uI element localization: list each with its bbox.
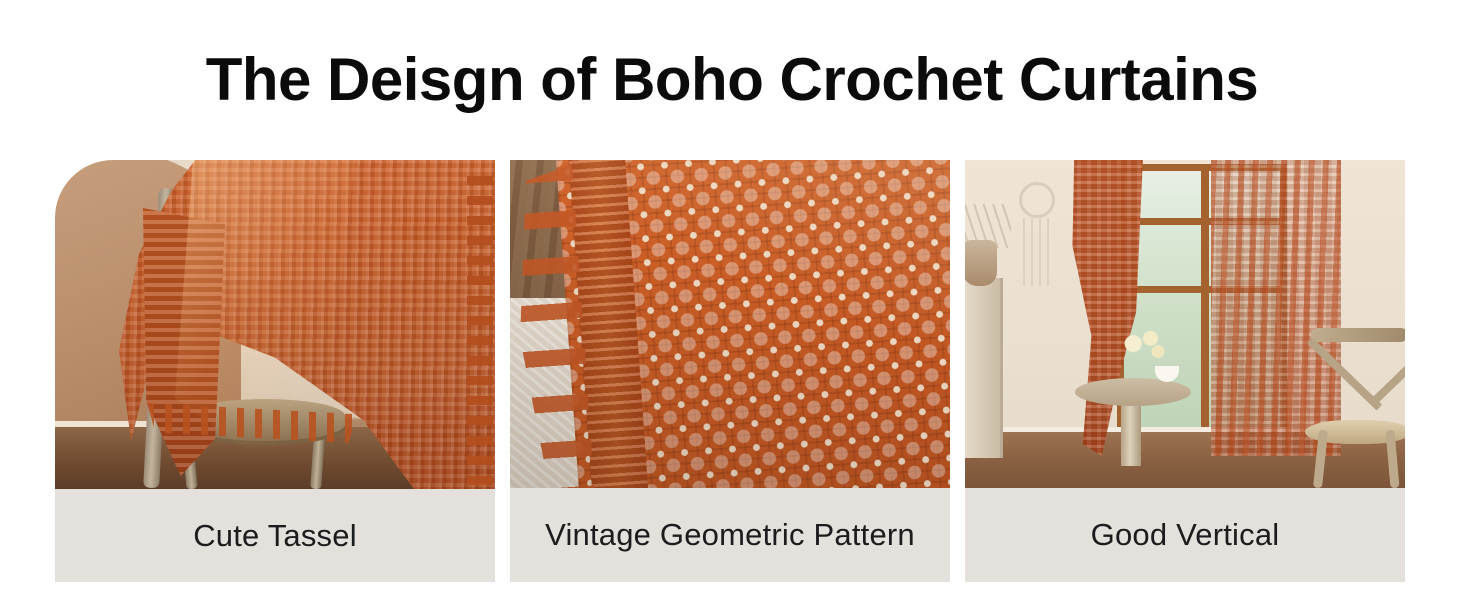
card-caption-band: Vintage Geometric Pattern [510, 488, 950, 582]
card-caption-text: Vintage Geometric Pattern [545, 516, 915, 554]
dreamcatcher-ring [1019, 182, 1055, 218]
fireplace-mantel [965, 278, 1003, 458]
feature-card-grid: Cute Tassel Vintage Geometric Pattern [55, 160, 1410, 582]
window-mullion-vertical [1201, 164, 1209, 456]
product-feature-banner: The Deisgn of Boho Crochet Curtains [0, 0, 1464, 600]
vase [965, 240, 997, 286]
chair-top-rail [1311, 328, 1405, 342]
feature-card-cute-tassel[interactable]: Cute Tassel [55, 160, 495, 582]
chair-cross-brace-1 [1307, 338, 1382, 410]
card-caption-text: Cute Tassel [193, 517, 357, 555]
page-title: The Deisgn of Boho Crochet Curtains [0, 47, 1464, 113]
feature-card-good-vertical[interactable]: Good Vertical [965, 160, 1405, 582]
photo-good-vertical [965, 160, 1405, 488]
cross-back-chair [1301, 328, 1405, 488]
round-table-top [1075, 378, 1191, 406]
dreamcatcher-fringe [1023, 218, 1053, 286]
photo-cute-tassel [55, 160, 495, 489]
card-caption-band: Good Vertical [965, 488, 1405, 582]
chair-cross-brace-2 [1371, 332, 1405, 404]
photo-vintage-geometric-pattern [510, 160, 950, 488]
card-caption-text: Good Vertical [1091, 516, 1280, 554]
photo-shading-overlay [510, 160, 950, 488]
table-pedestal [1121, 400, 1141, 466]
feature-card-vintage-geometric-pattern[interactable]: Vintage Geometric Pattern [510, 160, 950, 582]
flower-bouquet [1117, 326, 1171, 370]
tassel-fringe-right [467, 176, 493, 488]
card-caption-band: Cute Tassel [55, 489, 495, 582]
